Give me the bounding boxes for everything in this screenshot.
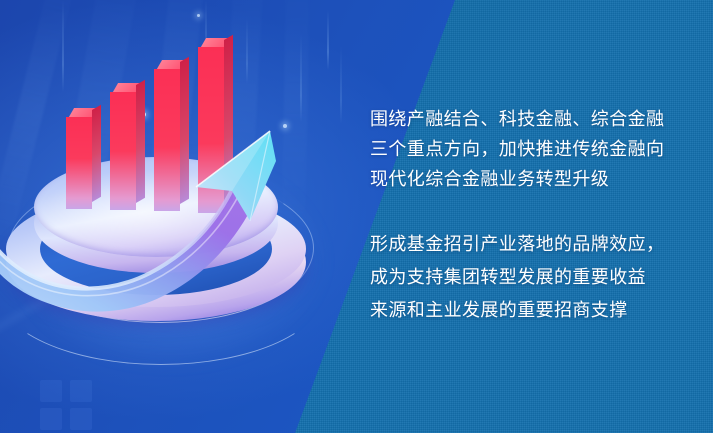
paragraph-1-line-1: 围绕产融结合、科技金融、综合金融: [370, 104, 690, 134]
orbit-ring-front: [0, 215, 326, 365]
paragraph-2: 形成基金招引产业落地的品牌效应， 成为支持集团转型发展的重要收益 来源和主业发展…: [370, 228, 690, 327]
paragraph-1-line-2: 三个重点方向，加快推进传统金融向: [370, 134, 690, 164]
paragraph-2-line-2: 成为支持集团转型发展的重要收益: [370, 261, 690, 294]
growth-chart-illustration: [0, 95, 330, 345]
paragraph-1: 围绕产融结合、科技金融、综合金融 三个重点方向，加快推进传统金融向 现代化综合金…: [370, 104, 690, 194]
paragraph-1-line-3: 现代化综合金融业务转型升级: [370, 164, 690, 194]
paragraph-2-line-1: 形成基金招引产业落地的品牌效应，: [370, 228, 690, 261]
paragraph-2-line-3: 来源和主业发展的重要招商支撑: [370, 294, 690, 327]
text-content: 围绕产融结合、科技金融、综合金融 三个重点方向，加快推进传统金融向 现代化综合金…: [370, 104, 690, 327]
slide-canvas: 围绕产融结合、科技金融、综合金融 三个重点方向，加快推进传统金融向 现代化综合金…: [0, 0, 713, 433]
